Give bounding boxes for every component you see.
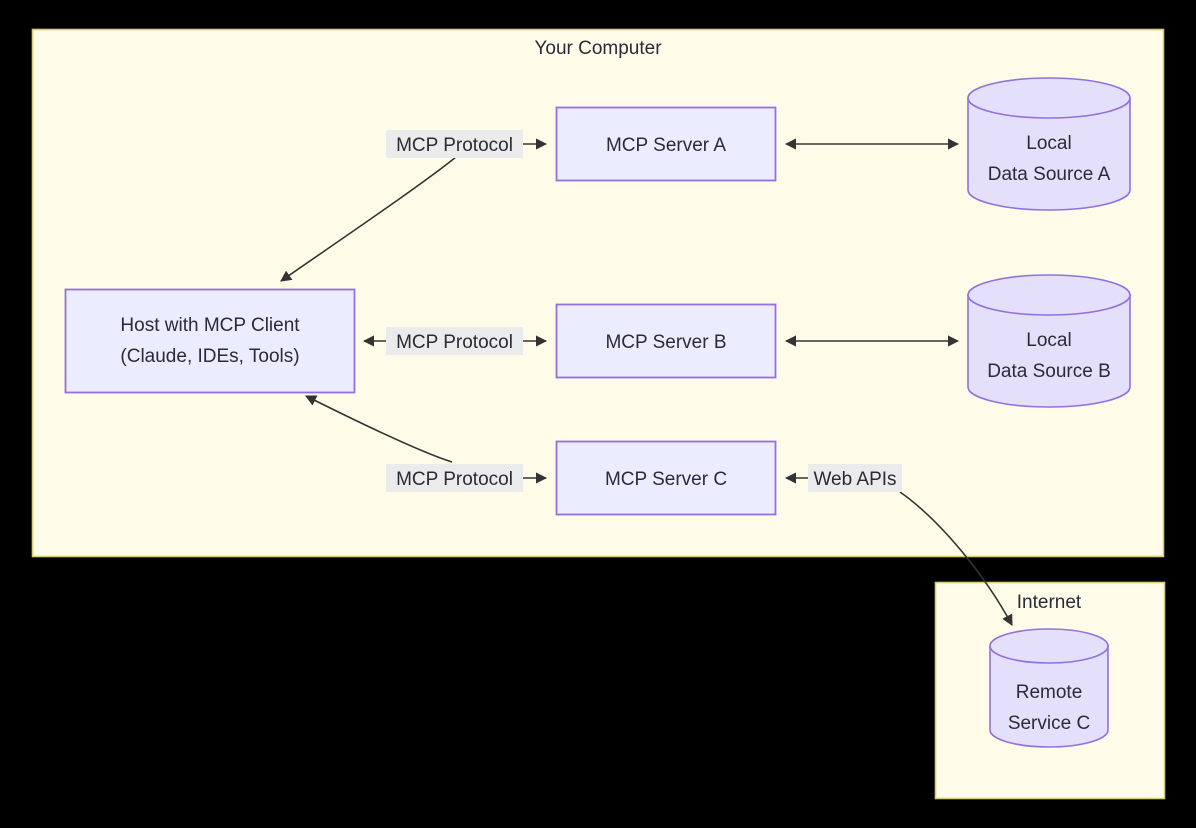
node-mcp-server-c[interactable]: MCP Server C [557, 442, 776, 515]
node-local-data-source-a[interactable]: Local Data Source A [968, 78, 1130, 210]
host-label-line1: Host with MCP Client [120, 315, 300, 336]
mcp-server-c-label: MCP Server C [605, 469, 727, 490]
edge-label-web-apis-text: Web APIs [813, 469, 896, 490]
edge-label-host-server-b: MCP Protocol [386, 327, 523, 355]
diagram-canvas: Your Computer Internet [0, 0, 1196, 828]
remote-service-c-label-line1: Remote [1016, 682, 1083, 703]
node-host[interactable]: Host with MCP Client (Claude, IDEs, Tool… [66, 290, 355, 393]
data-source-a-cylinder-top [968, 78, 1130, 118]
your-computer-title: Your Computer [534, 38, 662, 59]
edge-label-host-server-a-text: MCP Protocol [396, 135, 513, 156]
edge-label-host-server-c: MCP Protocol [386, 464, 523, 492]
mcp-server-a-label: MCP Server A [606, 135, 726, 156]
data-source-a-label-line2: Data Source A [988, 164, 1111, 185]
edge-label-host-server-c-text: MCP Protocol [396, 469, 513, 490]
remote-service-c-label-line2: Service C [1008, 713, 1090, 734]
host-label-line2: (Claude, IDEs, Tools) [120, 346, 299, 367]
node-mcp-server-b[interactable]: MCP Server B [557, 305, 776, 378]
data-source-b-cylinder-top [968, 275, 1130, 315]
host-box[interactable] [66, 290, 355, 393]
architecture-diagram: Your Computer Internet [0, 0, 1196, 828]
edge-label-host-server-b-text: MCP Protocol [396, 332, 513, 353]
edge-label-host-server-a: MCP Protocol [386, 130, 523, 158]
internet-title: Internet [1017, 592, 1082, 613]
data-source-a-label-line1: Local [1026, 133, 1071, 154]
remote-service-c-cylinder-top [990, 629, 1108, 663]
mcp-server-b-label: MCP Server B [605, 332, 726, 353]
edge-label-web-apis: Web APIs [808, 464, 902, 492]
data-source-b-label-line1: Local [1026, 330, 1071, 351]
data-source-b-label-line2: Data Source B [987, 361, 1111, 382]
node-remote-service-c[interactable]: Remote Service C [990, 629, 1108, 747]
node-local-data-source-b[interactable]: Local Data Source B [968, 275, 1130, 407]
node-mcp-server-a[interactable]: MCP Server A [557, 108, 776, 181]
